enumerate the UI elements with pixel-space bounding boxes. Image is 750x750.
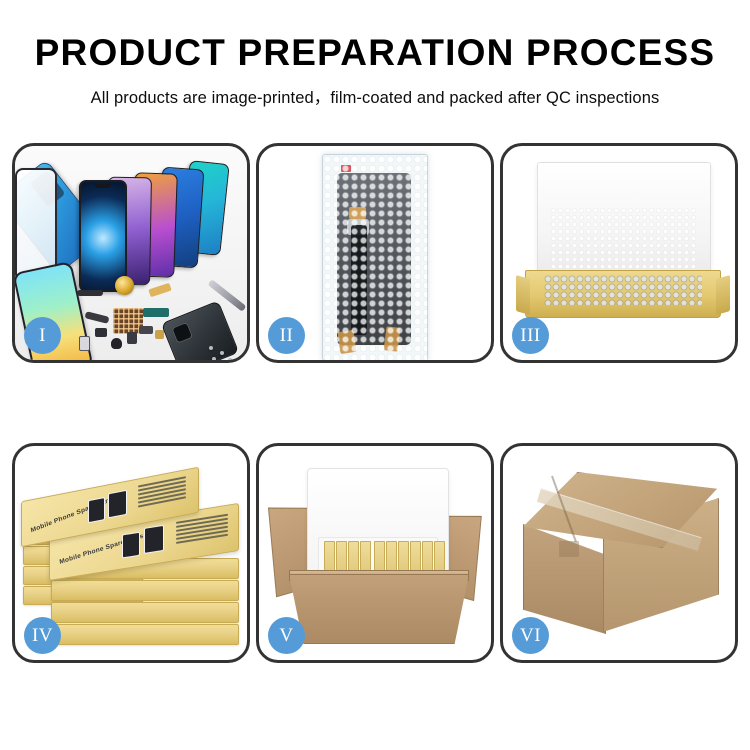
box-flap-right: [716, 275, 730, 315]
small-component-part: [127, 332, 137, 344]
phone-notch: [95, 184, 111, 188]
step-panel-v: V: [256, 443, 494, 663]
small-component-part: [111, 338, 122, 349]
connector-part: [77, 290, 103, 296]
step-badge-iii: III: [512, 317, 549, 354]
box-artwork-thumbnail: [122, 532, 140, 559]
small-component-part: [155, 330, 164, 339]
tape-piece: [338, 330, 357, 354]
yellow-tray-box: [525, 270, 721, 318]
page-subtitle: All products are image-printed，film-coat…: [0, 84, 750, 108]
flex-cable-part: [85, 311, 110, 324]
screws-group: [209, 346, 239, 360]
carton-tab: [559, 541, 579, 557]
box-spec-lines: [138, 476, 186, 509]
step-badge-ii: II: [268, 317, 305, 354]
step-panel-iii: III: [500, 143, 738, 363]
step-badge-i: I: [24, 317, 61, 354]
phone-screen-fan: [67, 160, 247, 280]
tape-piece: [349, 207, 366, 219]
box-artwork-thumbnail: [108, 490, 127, 519]
box-lid-image: [537, 162, 711, 284]
bubble-wrapped-contents: [544, 275, 702, 305]
step-badge-vi: VI: [512, 617, 549, 654]
flex-cable-part: [148, 283, 171, 297]
lcd-flex-cable: [351, 225, 367, 335]
step-badge-iv: IV: [24, 617, 61, 654]
step-panel-vi: VI: [500, 443, 738, 663]
small-component-part: [139, 326, 153, 334]
speaker-coil-part: [115, 276, 134, 295]
step-panel-i: I: [12, 143, 250, 363]
small-component-part: [79, 336, 90, 351]
spare-parts-group: [77, 274, 247, 360]
stacked-box: [51, 580, 239, 601]
step-badge-v: V: [268, 617, 305, 654]
bubble-wrap-package: [322, 154, 428, 360]
carton-front-wall: [289, 574, 469, 644]
red-label-sticker: [341, 165, 351, 172]
page-header: PRODUCT PREPARATION PROCESS All products…: [0, 0, 750, 108]
box-flap-left: [516, 275, 530, 315]
box-artwork-thumbnail: [144, 525, 164, 554]
flex-cable-part: [143, 308, 169, 317]
step-panel-ii: II: [256, 143, 494, 363]
box-spec-lines: [176, 514, 228, 546]
stacked-box: [51, 602, 239, 623]
small-component-part: [95, 328, 107, 337]
lcd-screen-image: [337, 173, 411, 345]
box-artwork-thumbnail: [88, 497, 105, 523]
stacked-box: [51, 624, 239, 645]
step-panel-iv: Mobile Phone Spare Parts Mobile Phone Sp…: [12, 443, 250, 663]
process-steps-grid: I II: [12, 143, 738, 683]
page-title: PRODUCT PREPARATION PROCESS: [0, 34, 750, 73]
tape-piece: [384, 326, 401, 352]
